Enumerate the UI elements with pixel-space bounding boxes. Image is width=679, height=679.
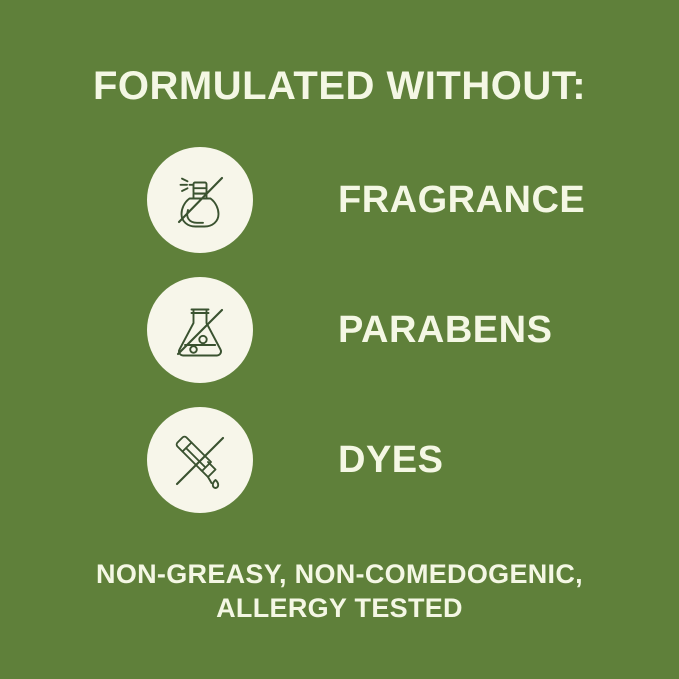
badge-circle-dyes	[147, 407, 253, 513]
no-parabens-flask-icon	[164, 294, 236, 366]
claim-label-fragrance: FRAGRANCE	[338, 147, 585, 253]
claim-label-parabens: PARABENS	[338, 277, 552, 383]
footer-line-1: NON-GREASY, NON-COMEDOGENIC,	[0, 558, 679, 592]
badge-circle-fragrance	[147, 147, 253, 253]
badge-circle-parabens	[147, 277, 253, 383]
list-item: DYES	[0, 407, 679, 537]
no-fragrance-spray-bottle-icon	[164, 164, 236, 236]
formulated-without-panel: FORMULATED WITHOUT:	[0, 0, 679, 679]
page-title: FORMULATED WITHOUT:	[0, 66, 679, 106]
slash-line	[178, 310, 222, 354]
footer-claims: NON-GREASY, NON-COMEDOGENIC, ALLERGY TES…	[0, 558, 679, 626]
slash-line	[177, 438, 223, 484]
claim-label-dyes: DYES	[338, 407, 443, 513]
claims-list: FRAGRANCE	[0, 147, 679, 537]
no-dyes-dropper-icon	[164, 424, 236, 496]
list-item: PARABENS	[0, 277, 679, 407]
list-item: FRAGRANCE	[0, 147, 679, 277]
footer-line-2: ALLERGY TESTED	[0, 592, 679, 626]
